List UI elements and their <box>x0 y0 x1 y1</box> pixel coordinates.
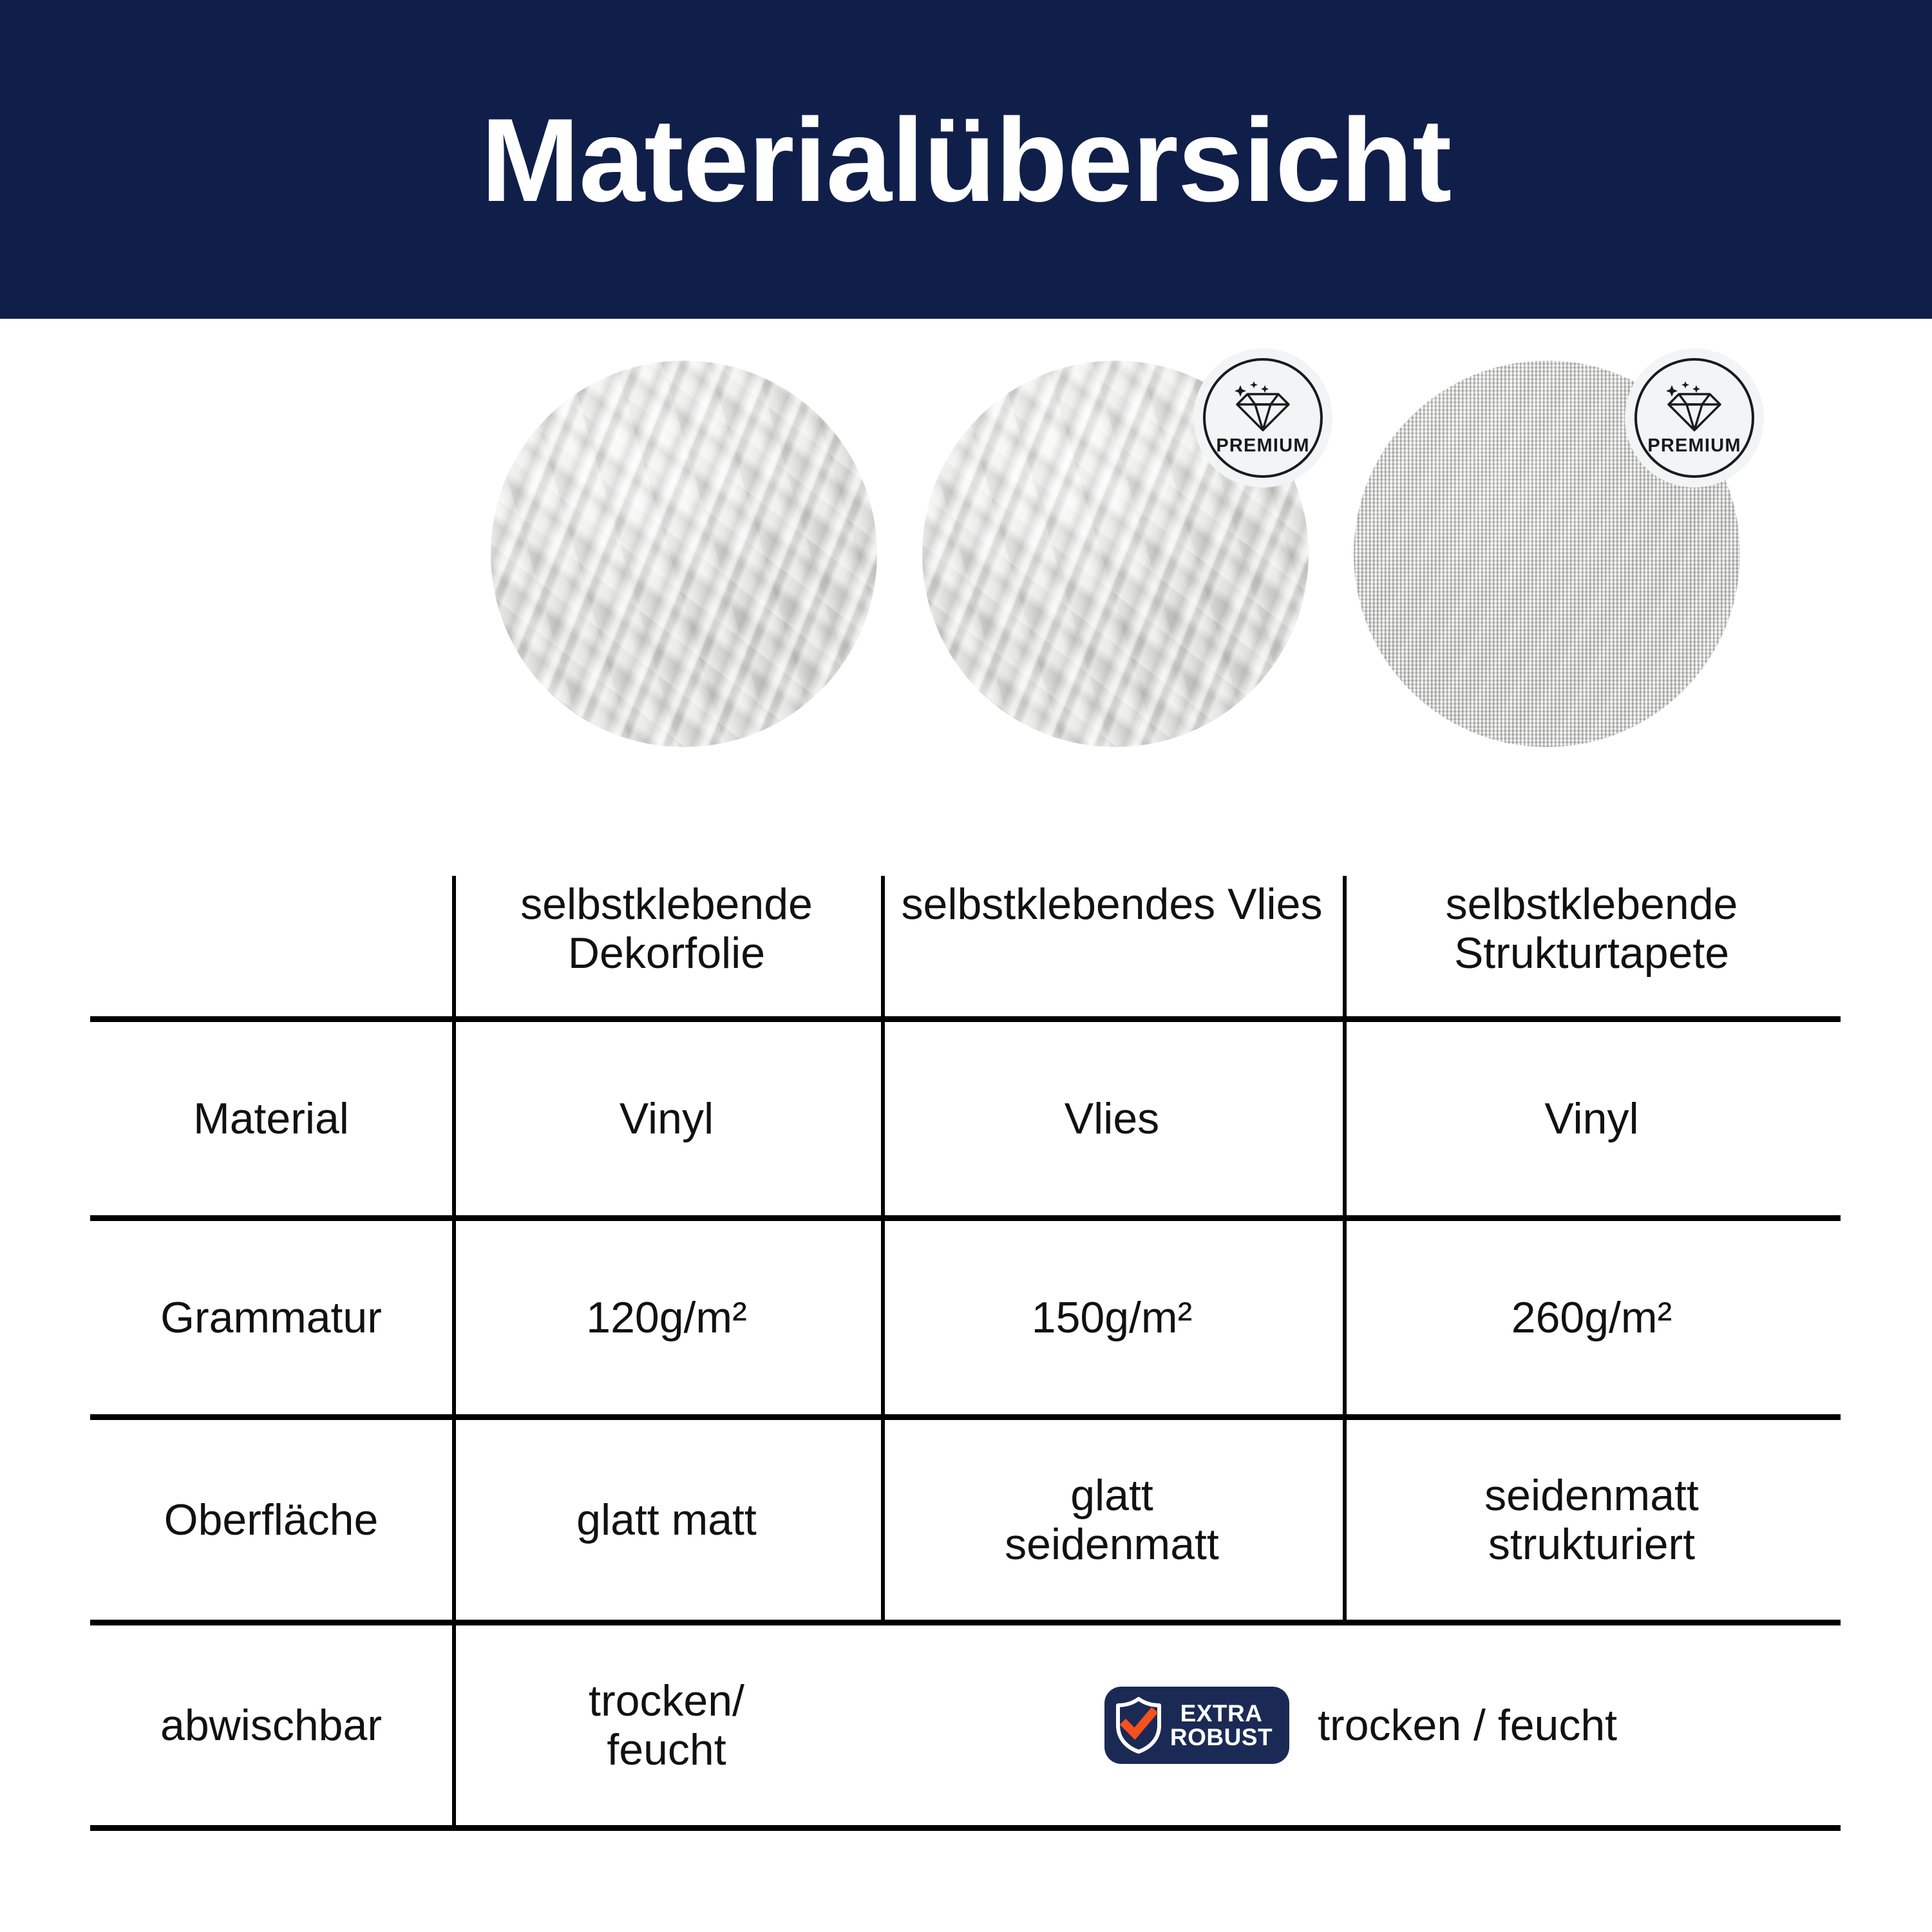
swatch-strukturtapete: PREMIUM <box>1354 361 1740 747</box>
table-rule <box>90 1414 1841 1420</box>
page-title: Materialübersicht <box>481 100 1452 219</box>
premium-badge-label: PREMIUM <box>1216 437 1309 455</box>
cell-grammatur-dekorfolie: 120g/m² <box>452 1221 881 1414</box>
column-divider <box>1343 1221 1347 1414</box>
cell-material-strukturtapete: Vinyl <box>1343 1022 1841 1215</box>
extra-robust-badge: EXTRA ROBUST <box>1104 1687 1289 1764</box>
cell-abwischbar-dekorfolie: trocken/ feucht <box>452 1625 881 1825</box>
cell-oberflaeche-strukturtapete: seidenmatt strukturiert <box>1343 1420 1841 1620</box>
column-divider <box>452 1625 456 1825</box>
table-rule <box>90 1620 1841 1625</box>
column-divider <box>1343 876 1347 1016</box>
premium-badge-label: PREMIUM <box>1647 437 1741 455</box>
cell-value-line2: feucht <box>607 1725 726 1774</box>
table-rule <box>90 1016 1841 1022</box>
column-divider <box>1343 1420 1347 1620</box>
cell-grammatur-vlies: 150g/m² <box>881 1221 1343 1414</box>
premium-badge-inner: PREMIUM <box>1634 358 1754 478</box>
table-header-row: selbstklebende Dekorfolie selbstklebende… <box>90 876 1841 1016</box>
cell-value: 260g/m² <box>1511 1293 1672 1342</box>
cell-material-vlies: Vlies <box>881 1022 1343 1215</box>
header-banner: Materialübersicht <box>0 0 1932 319</box>
premium-badge-inner: PREMIUM <box>1203 358 1323 478</box>
diamond-icon <box>1229 381 1296 433</box>
premium-badge: PREMIUM <box>1195 350 1331 486</box>
cell-value: Vlies <box>1065 1094 1159 1143</box>
column-header-label: selbstklebende Strukturtapete <box>1354 880 1829 978</box>
column-header-label: selbstklebendes Vlies <box>902 880 1323 929</box>
shield-check-icon <box>1115 1697 1162 1754</box>
row-label-abwischbar: abwischbar <box>90 1625 452 1825</box>
cell-oberflaeche-vlies: glatt seidenmatt <box>881 1420 1343 1620</box>
extra-robust-line1: EXTRA <box>1170 1701 1273 1725</box>
table-row: Material Vinyl Vlies Vinyl <box>90 1022 1841 1215</box>
diamond-icon <box>1661 381 1728 433</box>
cell-value: Vinyl <box>1544 1094 1638 1143</box>
swatch-disc <box>491 361 877 747</box>
cell-value-line1: glatt <box>1070 1471 1153 1520</box>
swatch-row: PREMIUM <box>0 358 1932 757</box>
table-rule <box>90 1215 1841 1221</box>
cell-value: glatt seidenmatt <box>1005 1471 1219 1569</box>
column-divider <box>452 1022 456 1215</box>
swatch-vlies: PREMIUM <box>922 361 1309 747</box>
cell-value: 150g/m² <box>1032 1293 1192 1342</box>
extra-robust-text: EXTRA ROBUST <box>1170 1701 1273 1749</box>
table-row: Oberfläche glatt matt glatt seidenmatt s… <box>90 1420 1841 1620</box>
cell-oberflaeche-dekorfolie: glatt matt <box>452 1420 881 1620</box>
row-label-grammatur: Grammatur <box>90 1221 452 1414</box>
cell-value: 120g/m² <box>586 1293 746 1342</box>
cell-value-line2: strukturiert <box>1488 1520 1695 1569</box>
premium-badge: PREMIUM <box>1627 350 1762 486</box>
cell-value-line2: seidenmatt <box>1005 1520 1219 1569</box>
cell-value-line1: trocken/ <box>589 1676 744 1725</box>
table-corner-cell <box>90 876 452 1016</box>
column-divider <box>881 876 885 1016</box>
cell-value: seidenmatt strukturiert <box>1484 1471 1699 1569</box>
column-divider <box>881 1022 885 1215</box>
cell-value: trocken/ feucht <box>589 1676 744 1774</box>
column-divider <box>452 876 456 1016</box>
column-divider <box>452 1420 456 1620</box>
cell-value: glatt matt <box>576 1495 757 1544</box>
cell-material-dekorfolie: Vinyl <box>452 1022 881 1215</box>
row-label-material: Material <box>90 1022 452 1215</box>
column-divider <box>881 1420 885 1620</box>
cell-value-line1: seidenmatt <box>1484 1471 1699 1520</box>
cell-grammatur-strukturtapete: 260g/m² <box>1343 1221 1841 1414</box>
column-header-dekorfolie: selbstklebende Dekorfolie <box>452 876 881 1016</box>
column-header-label: selbstklebende Dekorfolie <box>464 880 869 978</box>
table-row: abwischbar trocken/ feucht <box>90 1625 1841 1825</box>
table-rule <box>90 1825 1841 1831</box>
column-header-strukturtapete: selbstklebende Strukturtapete <box>1343 876 1841 1016</box>
material-overview-page: Materialübersicht <box>0 0 1932 1932</box>
column-header-vlies: selbstklebendes Vlies <box>881 876 1343 1016</box>
row-label-oberflaeche: Oberfläche <box>90 1420 452 1620</box>
column-divider <box>881 1221 885 1414</box>
column-divider <box>1343 1022 1347 1215</box>
material-comparison-table: selbstklebende Dekorfolie selbstklebende… <box>90 876 1841 1831</box>
cell-value: Vinyl <box>620 1094 714 1143</box>
texture-plaster-stone <box>491 361 877 747</box>
extra-robust-line2: ROBUST <box>1170 1725 1273 1749</box>
column-divider <box>452 1221 456 1414</box>
cell-value: trocken / feucht <box>1318 1701 1617 1750</box>
table-row: Grammatur 120g/m² 150g/m² 260g/m² <box>90 1221 1841 1414</box>
swatch-dekorfolie <box>491 361 877 747</box>
cell-abwischbar-merged: EXTRA ROBUST trocken / feucht <box>881 1625 1841 1825</box>
